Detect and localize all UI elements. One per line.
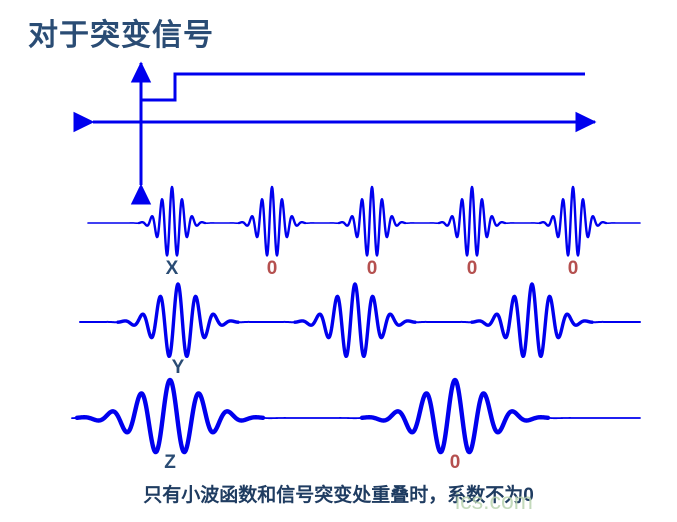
wavelet-row-1-packet-2 (239, 187, 305, 255)
watermark-text: ics.com (455, 488, 533, 515)
wavelet-label-1-1: X (166, 258, 179, 280)
slide-canvas: 对于突变信号 X0000YZ0 只有小波函数和信号突变处重叠时，系数不为0 ic… (0, 0, 677, 522)
wavelet-row-1-packet-5 (540, 187, 606, 255)
step-function-curve (141, 74, 585, 100)
wavelet-row-2-packet-3 (472, 284, 592, 356)
wavelet-label-2-1: Y (172, 357, 185, 379)
wavelet-label-1-4: 0 (467, 258, 478, 280)
wavelet-row-1-packet-4 (439, 187, 505, 255)
wavelet-rows-group (72, 187, 640, 452)
wavelet-row-1-packet-3 (339, 187, 405, 255)
wavelet-row-3-packet-2 (362, 380, 548, 452)
wavelet-row-1-packet-1 (139, 187, 205, 255)
wavelet-row-3-packet-1 (77, 380, 263, 452)
wavelet-label-3-2: 0 (450, 452, 461, 474)
wavelet-label-3-1: Z (164, 452, 176, 474)
wavelet-label-1-2: 0 (267, 258, 278, 280)
caption-text: 只有小波函数和信号突变处重叠时，系数不为0 (0, 480, 677, 507)
wavelet-row-2-packet-2 (295, 284, 415, 356)
wavelet-label-1-3: 0 (367, 258, 378, 280)
wavelet-label-1-5: 0 (568, 258, 579, 280)
step-signal-group (93, 63, 595, 185)
wavelet-row-2-packet-1 (118, 284, 238, 356)
